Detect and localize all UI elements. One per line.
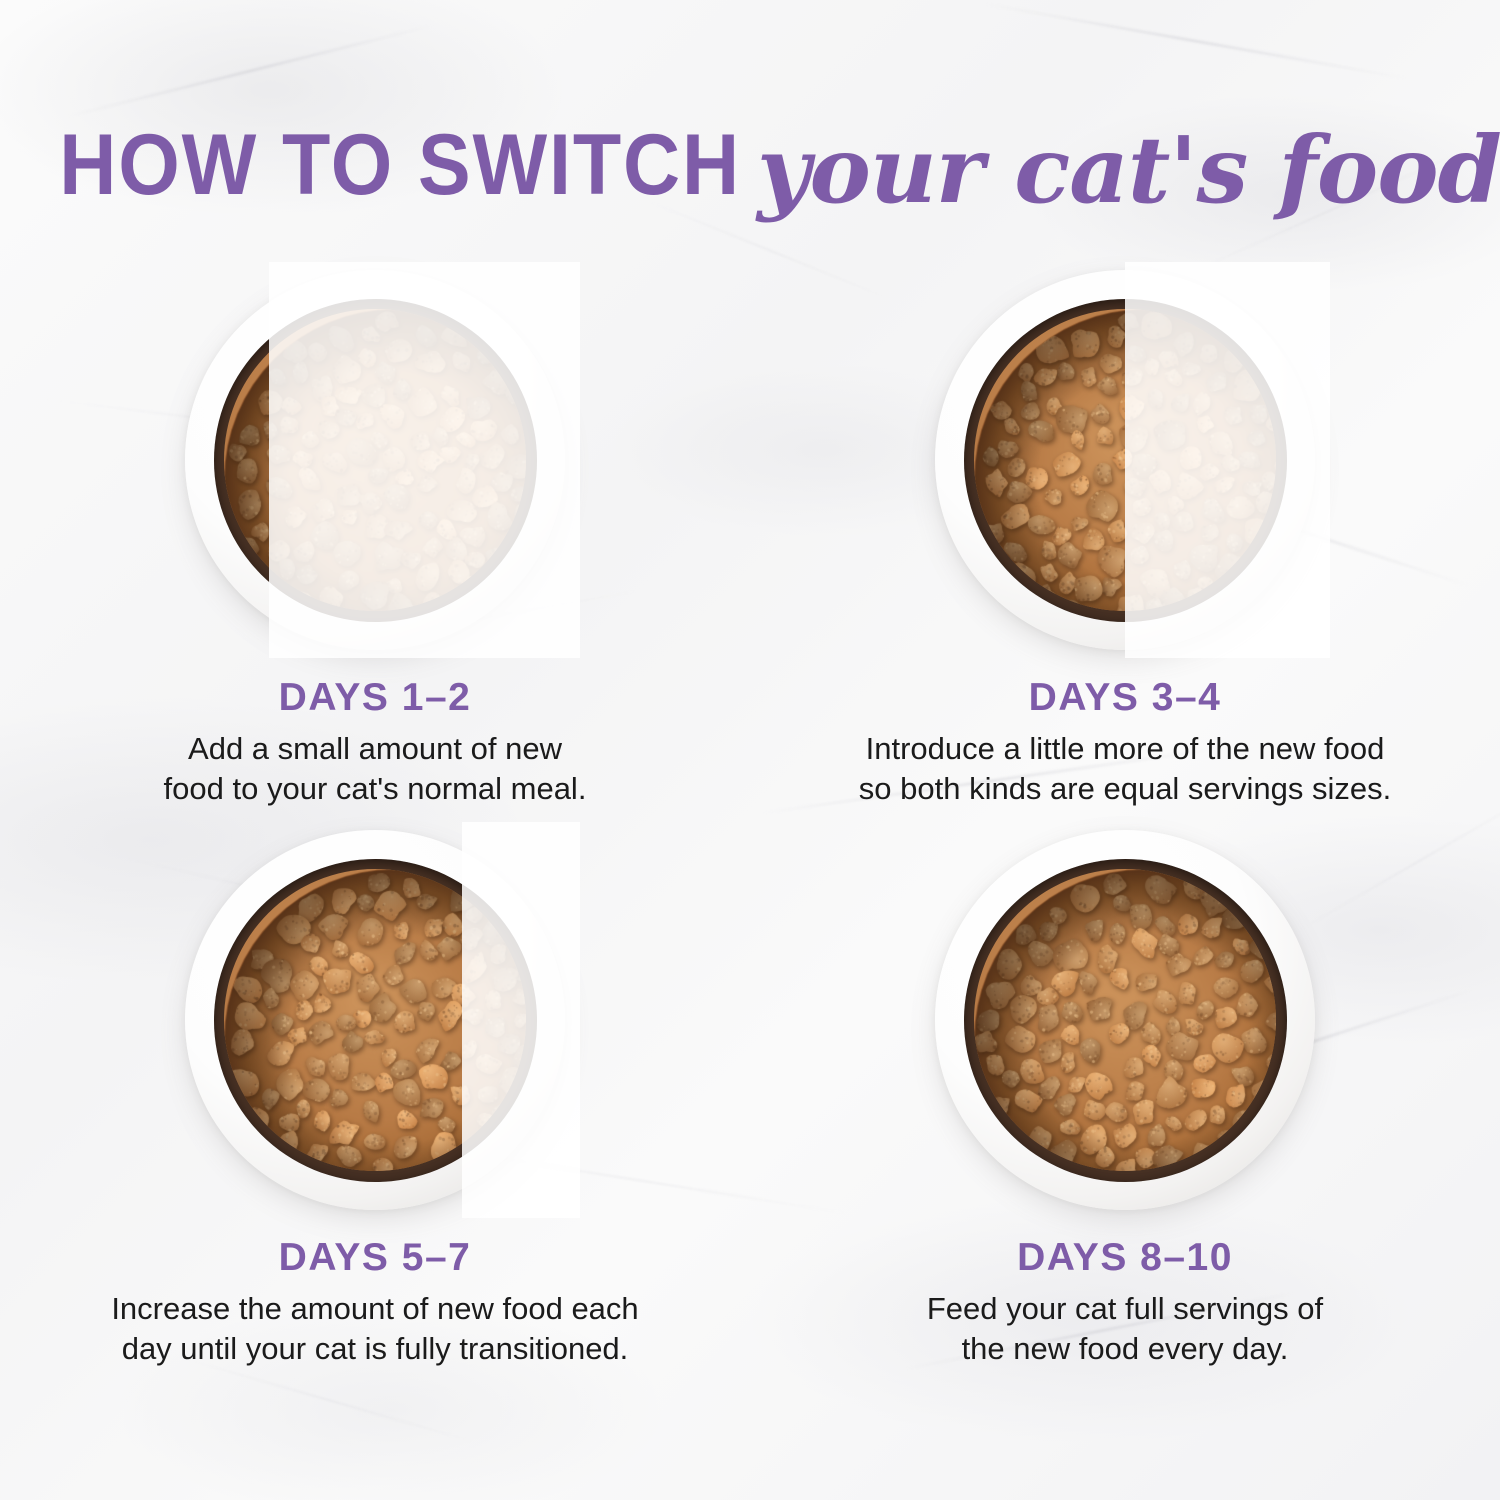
kibble-field-3: [224, 869, 526, 1171]
title-script-text: your cat's food: [757, 116, 1500, 224]
marble-vein: [983, 3, 1407, 80]
step-days-3-4: DAYS 3–4 Introduce a little more of the …: [750, 270, 1500, 830]
bowl-well-1: [214, 299, 537, 622]
kibble-field-1: [224, 309, 526, 611]
day-description-1-line1: Add a small amount of new: [25, 729, 725, 769]
kibble-texture-1: [224, 309, 526, 611]
day-description-1-line2: food to your cat's normal meal.: [25, 769, 725, 809]
bowl-well-3: [214, 859, 537, 1182]
steps-grid: DAYS 1–2 Add a small amount of new food …: [0, 270, 1500, 1390]
kibble-texture-4: [974, 869, 1276, 1171]
page-title: HOW TO SWITCHyour cat's food: [0, 108, 1500, 216]
caption-1: DAYS 1–2 Add a small amount of new food …: [25, 676, 725, 808]
food-bowl-2: [935, 270, 1315, 650]
day-description-4: Feed your cat full servings of the new f…: [775, 1289, 1475, 1368]
day-description-3: Increase the amount of new food each day…: [25, 1289, 725, 1368]
day-description-2-line1: Introduce a little more of the new food: [775, 729, 1475, 769]
day-description-1: Add a small amount of new food to your c…: [25, 729, 725, 808]
caption-3: DAYS 5–7 Increase the amount of new food…: [25, 1236, 725, 1368]
bowl-well-2: [964, 299, 1287, 622]
day-description-4-line1: Feed your cat full servings of: [775, 1289, 1475, 1329]
day-label-3: DAYS 5–7: [25, 1236, 725, 1280]
step-days-8-10: DAYS 8–10 Feed your cat full servings of…: [750, 830, 1500, 1390]
kibble-texture-3: [224, 869, 526, 1171]
step-days-1-2: DAYS 1–2 Add a small amount of new food …: [0, 270, 750, 830]
step-days-5-7: DAYS 5–7 Increase the amount of new food…: [0, 830, 750, 1390]
day-description-3-line2: day until your cat is fully transitioned…: [25, 1329, 725, 1369]
day-label-2: DAYS 3–4: [775, 676, 1475, 720]
kibble-texture-2: [974, 309, 1276, 611]
caption-2: DAYS 3–4 Introduce a little more of the …: [775, 676, 1475, 808]
kibble-field-2: [974, 309, 1276, 611]
day-label-4: DAYS 8–10: [775, 1236, 1475, 1280]
day-description-3-line1: Increase the amount of new food each: [25, 1289, 725, 1329]
title-main-text: HOW TO SWITCH: [59, 116, 741, 215]
bowl-well-4: [964, 859, 1287, 1182]
kibble-field-4: [974, 869, 1276, 1171]
food-bowl-3: [185, 830, 565, 1210]
day-description-2: Introduce a little more of the new food …: [775, 729, 1475, 808]
day-description-2-line2: so both kinds are equal servings sizes.: [775, 769, 1475, 809]
food-bowl-1: [185, 270, 565, 650]
marble-vein: [65, 24, 434, 118]
food-bowl-4: [935, 830, 1315, 1210]
caption-4: DAYS 8–10 Feed your cat full servings of…: [775, 1236, 1475, 1368]
day-label-1: DAYS 1–2: [25, 676, 725, 720]
day-description-4-line2: the new food every day.: [775, 1329, 1475, 1369]
